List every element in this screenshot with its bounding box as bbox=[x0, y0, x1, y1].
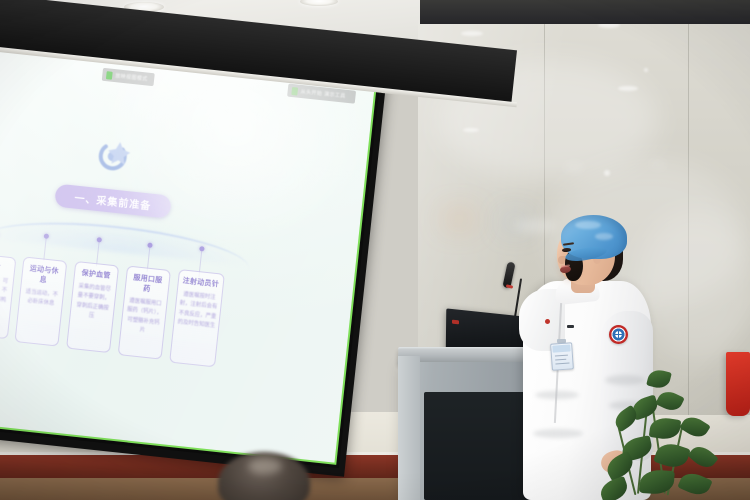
ceiling-reflection bbox=[650, 162, 666, 167]
nose bbox=[558, 256, 565, 264]
right-soffit bbox=[420, 0, 750, 24]
ceiling-reflection bbox=[463, 128, 479, 132]
cap-highlight bbox=[595, 233, 613, 240]
lapel-pin-icon bbox=[567, 325, 574, 328]
plant-leaf bbox=[687, 442, 718, 473]
laptop-logo-icon bbox=[452, 320, 459, 325]
warm-reflection bbox=[444, 212, 474, 226]
plant-leaf bbox=[639, 469, 675, 495]
audience-head-highlight bbox=[248, 458, 282, 474]
ceiling-reflection bbox=[618, 86, 638, 91]
plant-leaf bbox=[597, 476, 630, 500]
podium-side bbox=[398, 356, 420, 500]
presentation-photo-scene: 放映视图模式 从头开始 演示工具 一、采集前准备 bbox=[0, 0, 750, 500]
lapel-pin-icon bbox=[545, 319, 550, 324]
ceiling-reflection bbox=[604, 170, 610, 176]
badge-header bbox=[552, 344, 570, 352]
badge-line bbox=[555, 362, 569, 364]
ceiling-reflection bbox=[644, 68, 648, 72]
potted-plant bbox=[596, 352, 750, 500]
plant-leaf bbox=[655, 388, 684, 415]
badge-line bbox=[555, 355, 568, 357]
ceiling-reflection bbox=[564, 164, 584, 170]
id-badge bbox=[550, 342, 574, 370]
badge-line bbox=[555, 359, 566, 361]
plant-leaf bbox=[646, 368, 672, 391]
cap-highlight bbox=[575, 221, 601, 229]
plant-leaf bbox=[679, 412, 711, 441]
medical-cross-icon bbox=[615, 331, 622, 338]
ceiling-reflection bbox=[461, 31, 483, 36]
plant-leaf bbox=[677, 469, 713, 499]
coat-fold bbox=[533, 429, 583, 438]
